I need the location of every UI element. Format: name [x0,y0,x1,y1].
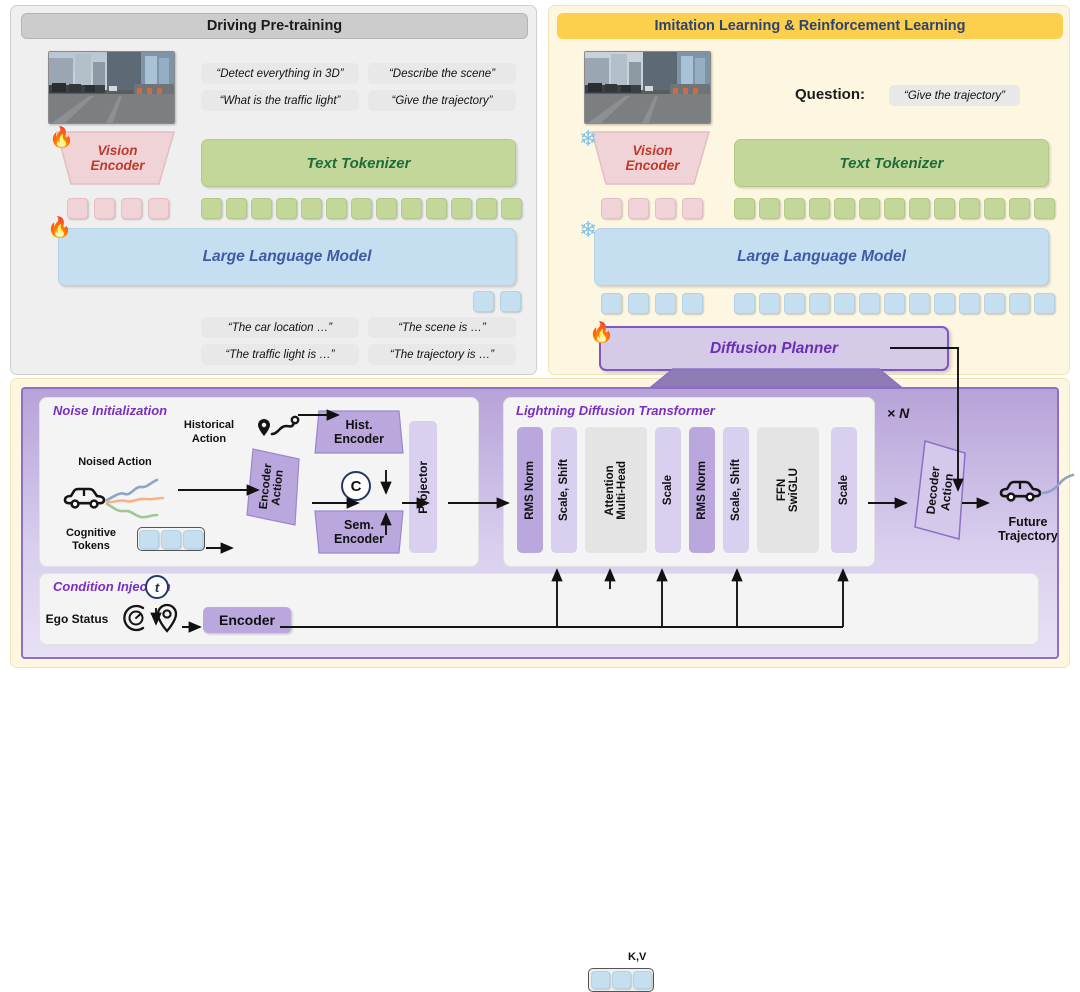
transformer-column-multi-head-attention: Multi-Head Attention [585,427,647,553]
concat-symbol: C [351,478,362,495]
vision-token [121,198,142,219]
future-trajectory-car-icon [997,471,1073,511]
hist-encoder-label-line1: Hist. [345,418,372,432]
historical-action-label-line2: Action [169,433,249,446]
fire-icon: 🔥 [49,128,74,148]
large-language-model-block: Large Language Model [58,228,516,286]
output-token [500,291,521,312]
vision-encoder-label-line2: Encoder [625,158,679,173]
llm-output-token-row-left [601,293,703,314]
speedometer-icon [121,603,151,633]
location-pin-svg [154,603,180,633]
timestep-symbol: t [155,580,159,595]
transformer-column-rms-norm-2: RMS Norm [689,427,715,553]
transformer-column-label-line1: SwiGLU [788,468,800,512]
transformer-column-label-line2: FFN [776,468,788,512]
snowflake-icon: ❄ [579,219,597,241]
driving-scene-svg [49,52,175,124]
text-token [859,198,880,219]
text-token [809,198,830,219]
prompt-chip: “Give the trajectory” [368,90,516,111]
text-token-row [734,198,1055,219]
transformer-column-scale-1: Scale [655,427,681,553]
output-token [682,293,703,314]
timestep-node: t [145,575,169,599]
driving-scene-image [584,51,711,124]
text-token [251,198,272,219]
transformer-column-label: RMS Norm [696,461,708,520]
transformer-column-scale-2: Scale [831,427,857,553]
text-token [301,198,322,219]
vision-token [94,198,115,219]
vision-token [67,198,88,219]
text-token [201,198,222,219]
kv-token [633,971,652,989]
location-pin-icon [154,603,180,633]
fire-icon: 🔥 [47,218,72,238]
concat-node: C [341,471,371,501]
vision-token-row [67,198,169,219]
question-label: Question: [795,86,865,103]
ego-status-label: Ego Status [35,613,119,627]
text-token [426,198,447,219]
condition-injection-section [39,573,1039,645]
action-encoder-block: Action Encoder [243,447,301,527]
text-token [784,198,805,219]
route-pin-svg [256,415,302,445]
vision-token [601,198,622,219]
text-token [226,198,247,219]
projector-label: Projector [416,461,430,514]
text-token [759,198,780,219]
transformer-column-swiglu-ffn: SwiGLU FFN [757,427,819,553]
prompt-chip: “What is the traffic light” [201,90,359,111]
cognitive-token [139,530,159,549]
output-token [834,293,855,314]
sem-encoder-block: Sem. Encoder [313,509,405,555]
text-token [501,198,522,219]
historical-action-label-line1: Historical [169,419,249,432]
transformer-column-rms-norm-1: RMS Norm [517,427,543,553]
transformer-column-label-line1: Multi-Head [616,461,628,520]
repeat-n-label: × N [887,405,909,421]
driving-scene-image [48,51,175,124]
panel-title-imitation-rl: Imitation Learning & Reinforcement Learn… [557,13,1063,39]
noised-action-svg [61,474,171,524]
text-token [834,198,855,219]
transformer-column-scale-shift-2: Scale, Shift [723,427,749,553]
output-token [473,291,494,312]
output-token [784,293,805,314]
noised-action-label: Noised Action [55,456,175,469]
text-token [276,198,297,219]
text-token [984,198,1005,219]
output-token [734,293,755,314]
vision-token [628,198,649,219]
noise-initialization-title: Noise Initialization [53,403,167,418]
text-token [376,198,397,219]
transformer-column-label: Scale [662,475,674,505]
text-tokenizer-block: Text Tokenizer [734,139,1049,187]
cognitive-token [183,530,203,549]
projector-block: Projector [409,421,437,553]
text-token [401,198,422,219]
hist-encoder-label-line2: Encoder [334,432,384,446]
output-token [759,293,780,314]
vision-encoder-block: Vision Encoder [590,130,715,186]
answer-chip: “The trajectory is …” [368,344,516,365]
output-token [859,293,880,314]
imitation-rl-panel: Imitation Learning & Reinforcement Learn… [548,5,1070,375]
transformer-column-label: RMS Norm [524,461,536,520]
driving-scene-svg [585,52,711,124]
vision-token [655,198,676,219]
lightning-diffusion-transformer-title: Lightning Diffusion Transformer [516,403,715,418]
sem-encoder-label-line1: Sem. [344,518,374,532]
cognitive-token [161,530,181,549]
noised-action-car-icon [61,474,171,524]
text-token [1034,198,1055,219]
planner-connector-shape [651,369,901,389]
condition-encoder-block: Encoder [203,607,291,633]
answer-chip: “The scene is …” [368,317,516,338]
text-token-row [201,198,522,219]
route-pin-icon [256,415,302,445]
transformer-column-label-line2: Attention [604,461,616,520]
speedometer-svg [121,603,151,633]
text-token [734,198,755,219]
output-token [1034,293,1055,314]
output-token [1009,293,1030,314]
future-trajectory-label-line1: Future [973,515,1080,529]
output-token [884,293,905,314]
text-token [884,198,905,219]
large-language-model-block: Large Language Model [594,228,1049,286]
text-token [1009,198,1030,219]
answer-chip: “The car location …” [201,317,359,338]
kv-label: K,V [628,951,646,963]
vision-token [682,198,703,219]
action-decoder-block: Action Decoder [911,439,969,543]
future-trajectory-svg [997,471,1073,511]
text-token [934,198,955,219]
text-tokenizer-block: Text Tokenizer [201,139,516,187]
text-token [959,198,980,219]
transformer-column-label: Scale [838,475,850,505]
cognitive-tokens-label-line1: Cognitive [51,527,131,540]
diffusion-planner-detail-panel: Noise Initialization Historical Action N… [10,378,1070,668]
sem-encoder-label-line2: Encoder [334,532,384,546]
kv-token-group [588,968,654,992]
output-token [809,293,830,314]
vision-token-row [601,198,703,219]
text-token [326,198,347,219]
question-value-chip: “Give the trajectory” [889,85,1020,106]
hist-encoder-block: Hist. Encoder [313,409,405,455]
output-token [655,293,676,314]
answer-chip: “The traffic light is …” [201,344,359,365]
transformer-column-label: Scale, Shift [558,459,570,521]
prompt-chip: “Describe the scene” [368,63,516,84]
panel-title-driving-pretraining: Driving Pre-training [21,13,528,39]
kv-token [591,971,610,989]
cognitive-tokens-group [137,527,205,551]
llm-output-token-row-right [734,293,1055,314]
vision-token [148,198,169,219]
prompt-chip: “Detect everything in 3D” [201,63,359,84]
cognitive-tokens-label-line2: Tokens [51,540,131,553]
output-token [984,293,1005,314]
output-token-row [473,291,521,312]
future-trajectory-label-line2: Trajectory [973,529,1080,543]
text-token [476,198,497,219]
vision-encoder-label-line2: Encoder [90,158,144,173]
fire-icon: 🔥 [589,323,614,343]
output-token [601,293,622,314]
transformer-column-scale-shift-1: Scale, Shift [551,427,577,553]
output-token [959,293,980,314]
vision-encoder-label-line1: Vision [632,143,672,158]
vision-encoder-label-line1: Vision [97,143,137,158]
driving-pretraining-panel: Driving Pre-training [10,5,537,375]
text-token [351,198,372,219]
transformer-column-label: Scale, Shift [730,459,742,521]
snowflake-icon: ❄ [579,128,597,150]
diffusion-planner-block: Diffusion Planner [599,326,949,371]
output-token [909,293,930,314]
planner-connector [651,369,901,389]
text-token [451,198,472,219]
output-token [628,293,649,314]
output-token [934,293,955,314]
kv-token [612,971,631,989]
text-token [909,198,930,219]
